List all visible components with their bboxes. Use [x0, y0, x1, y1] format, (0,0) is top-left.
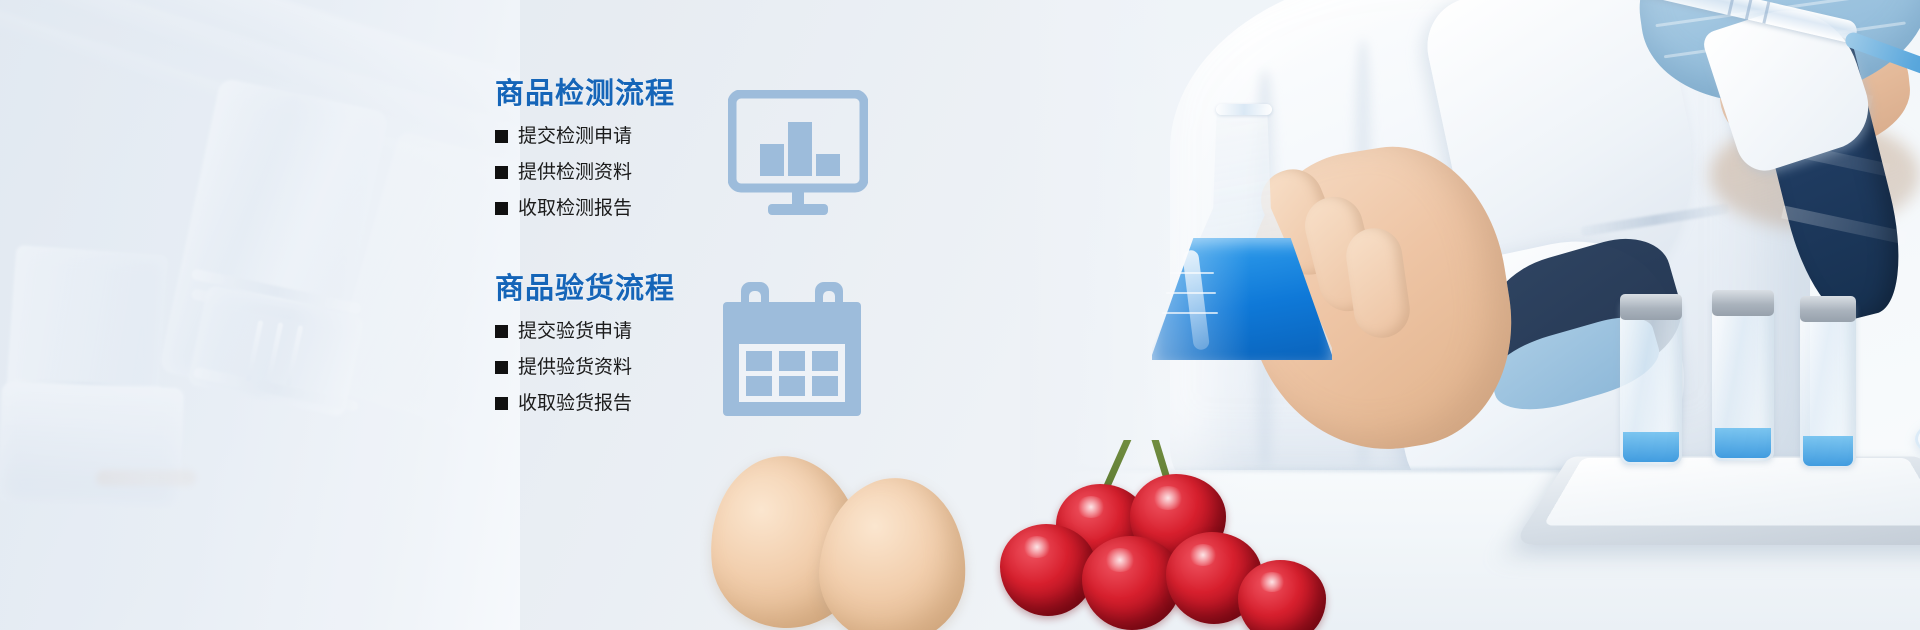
bullet-square-icon — [495, 202, 508, 215]
inspection-item-2-label: 提供验货资料 — [518, 358, 632, 377]
pipette-graduation — [1727, 0, 1735, 16]
cherry-highlight — [1258, 572, 1286, 592]
calendar-icon — [717, 275, 867, 425]
vial-cap — [1712, 290, 1774, 316]
inspection-item-1: 提交验货申请 — [495, 322, 695, 341]
testing-text-column: 商品检测流程 提交检测申请 提供检测资料 收取检测报告 — [495, 80, 695, 218]
banner-root: 商品检测流程 提交检测申请 提供检测资料 收取检测报告 — [0, 0, 1920, 630]
bullet-square-icon — [495, 325, 508, 338]
bullet-square-icon — [495, 361, 508, 374]
cherry-highlight — [1076, 496, 1106, 518]
pipette-graduation — [1762, 2, 1770, 24]
cherry-highlight — [1152, 486, 1184, 510]
testing-item-2-label: 提供检测资料 — [518, 163, 632, 182]
inspection-item-3-label: 收取验货报告 — [518, 394, 632, 413]
bullet-square-icon — [495, 130, 508, 143]
inspection-item-3: 收取验货报告 — [495, 394, 695, 413]
inspection-text-column: 商品验货流程 提交验货申请 提供验货资料 收取验货报告 — [495, 275, 695, 413]
inspection-item-2: 提供验货资料 — [495, 358, 695, 377]
testing-item-3-label: 收取检测报告 — [518, 199, 632, 218]
inspection-item-1-label: 提交验货申请 — [518, 322, 632, 341]
testing-item-3: 收取检测报告 — [495, 199, 695, 218]
testing-item-2: 提供检测资料 — [495, 163, 695, 182]
cherry-highlight — [1188, 544, 1218, 566]
vial-cap — [1620, 294, 1682, 320]
bullet-square-icon — [495, 166, 508, 179]
testing-item-1-label: 提交检测申请 — [518, 127, 632, 146]
pipette-graduation — [1745, 0, 1753, 20]
vial-cap — [1800, 296, 1856, 322]
monitor-bar-chart-icon — [723, 80, 873, 230]
process-block-testing: 商品检测流程 提交检测申请 提供检测资料 收取检测报告 — [495, 80, 873, 230]
testing-item-1: 提交检测申请 — [495, 127, 695, 146]
inspection-heading: 商品验货流程 — [495, 275, 695, 304]
bullet-square-icon — [495, 397, 508, 410]
process-block-inspection: 商品验货流程 提交验货申请 提供验货资料 收取验货报告 — [495, 275, 867, 425]
tie-stripe — [1781, 206, 1907, 245]
cherry — [1238, 560, 1326, 630]
cherry-highlight — [1104, 548, 1136, 572]
testing-heading: 商品检测流程 — [495, 80, 695, 109]
banner-content: 商品检测流程 提交检测申请 提供检测资料 收取检测报告 — [0, 0, 1060, 630]
